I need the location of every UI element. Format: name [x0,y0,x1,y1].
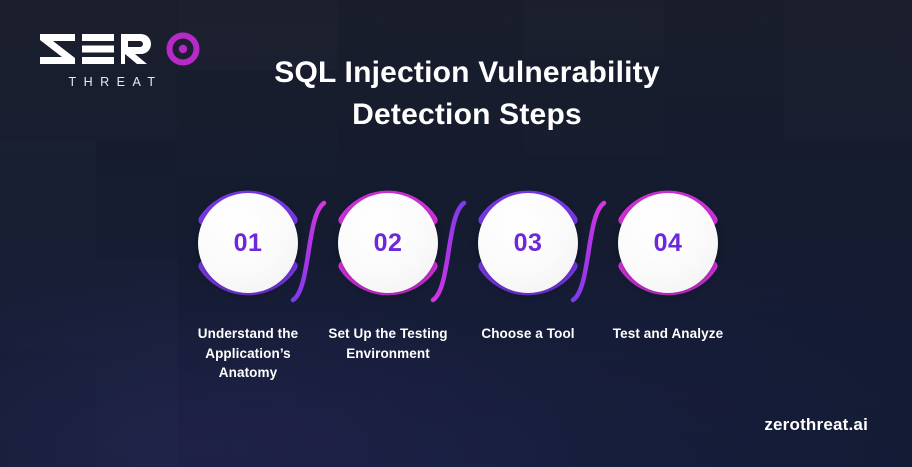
step-item-2[interactable]: 02 Set Up the Testing Environment [318,176,458,363]
step-caption-2: Set Up the Testing Environment [318,324,458,363]
step-caption-3: Choose a Tool [458,324,598,344]
step-disc-3: 03 [478,193,578,293]
step-disc-4: 04 [618,193,718,293]
zero-wordmark-icon [38,30,168,68]
step-ring-2: 02 [321,176,455,310]
mosaic-block [524,0,664,58]
logo-zero-row [38,32,238,66]
step-item-3[interactable]: 03 Choose a Tool [458,176,598,344]
step-disc-2: 02 [338,193,438,293]
logo-target-o-icon [164,30,202,68]
step-ring-1: 01 [181,176,315,310]
step-number-4: 04 [654,229,683,258]
step-ring-4: 04 [601,176,735,310]
website-url[interactable]: zerothreat.ai [764,415,868,435]
step-number-2: 02 [374,229,403,258]
steps-row: 01 Understand the Application’s Anatomy … [178,176,738,391]
step-item-4[interactable]: 04 Test and Analyze [598,176,738,344]
mosaic-block [0,350,96,467]
step-number-3: 03 [514,229,543,258]
mosaic-block [96,178,178,260]
title-line-2: Detection Steps [232,94,702,136]
page-title: SQL Injection Vulnerability Detection St… [232,52,702,136]
mosaic-block [784,0,912,140]
step-disc-1: 01 [198,193,298,293]
step-number-1: 01 [234,229,263,258]
mosaic-block [96,350,178,467]
step-caption-4: Test and Analyze [598,324,738,344]
infographic-canvas: THREAT SQL Injection Vulnerability Detec… [0,0,912,467]
step-item-1[interactable]: 01 Understand the Application’s Anatomy [178,176,318,383]
logo-threat-text: THREAT [38,75,186,89]
step-ring-3: 03 [461,176,595,310]
mosaic-block [0,260,178,350]
zerothreat-logo[interactable]: THREAT [38,32,238,89]
step-caption-1: Understand the Application’s Anatomy [178,324,318,383]
title-line-1: SQL Injection Vulnerability [232,52,702,94]
mosaic-block [0,142,96,260]
